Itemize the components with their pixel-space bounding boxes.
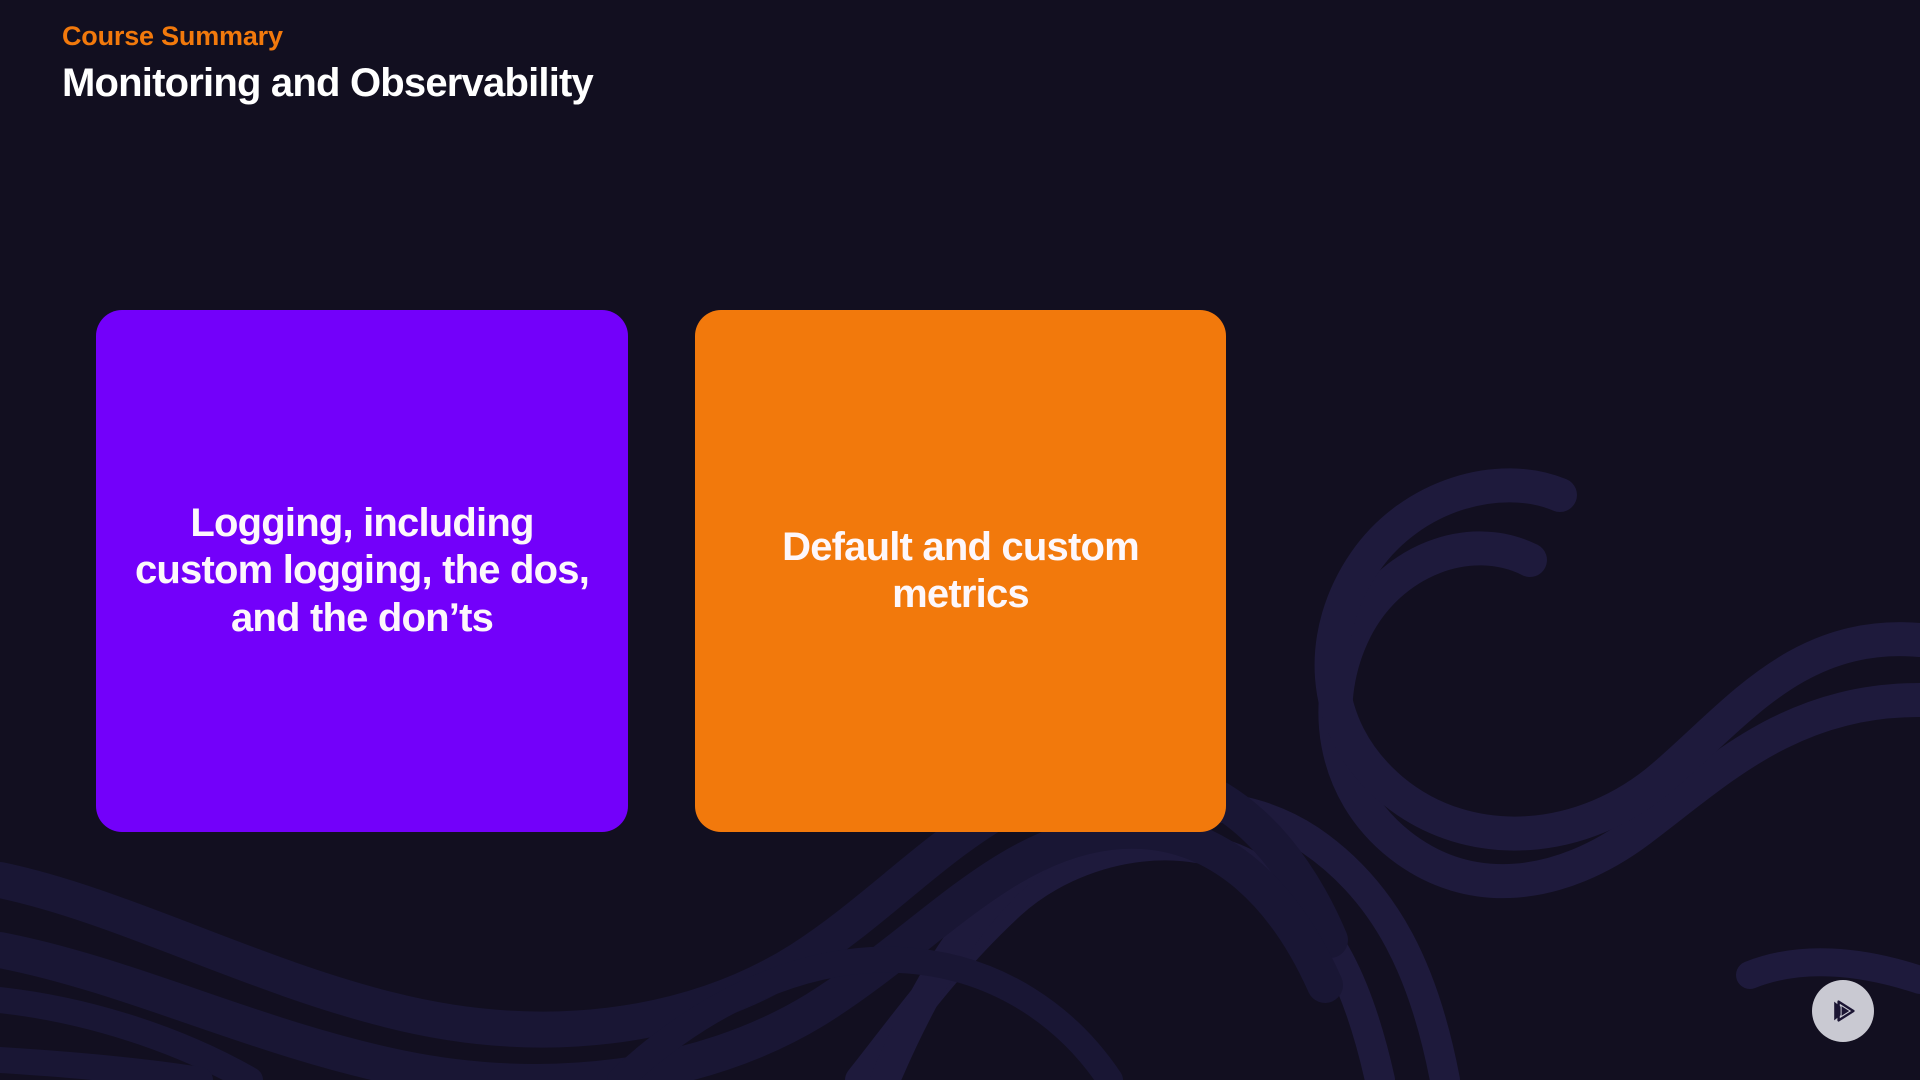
slide-canvas: Course Summary Monitoring and Observabil… [0,0,1920,1080]
card-metrics[interactable]: Default and custom metrics [695,310,1226,832]
card-logging-text: Logging, including custom logging, the d… [132,500,592,642]
card-metrics-text: Default and custom metrics [733,524,1188,618]
page-title: Monitoring and Observability [62,60,1262,107]
slide-header: Course Summary Monitoring and Observabil… [62,20,1262,107]
eyebrow-label: Course Summary [62,20,1262,54]
play-triangle-logo-icon[interactable] [1812,980,1874,1042]
card-logging[interactable]: Logging, including custom logging, the d… [96,310,628,832]
